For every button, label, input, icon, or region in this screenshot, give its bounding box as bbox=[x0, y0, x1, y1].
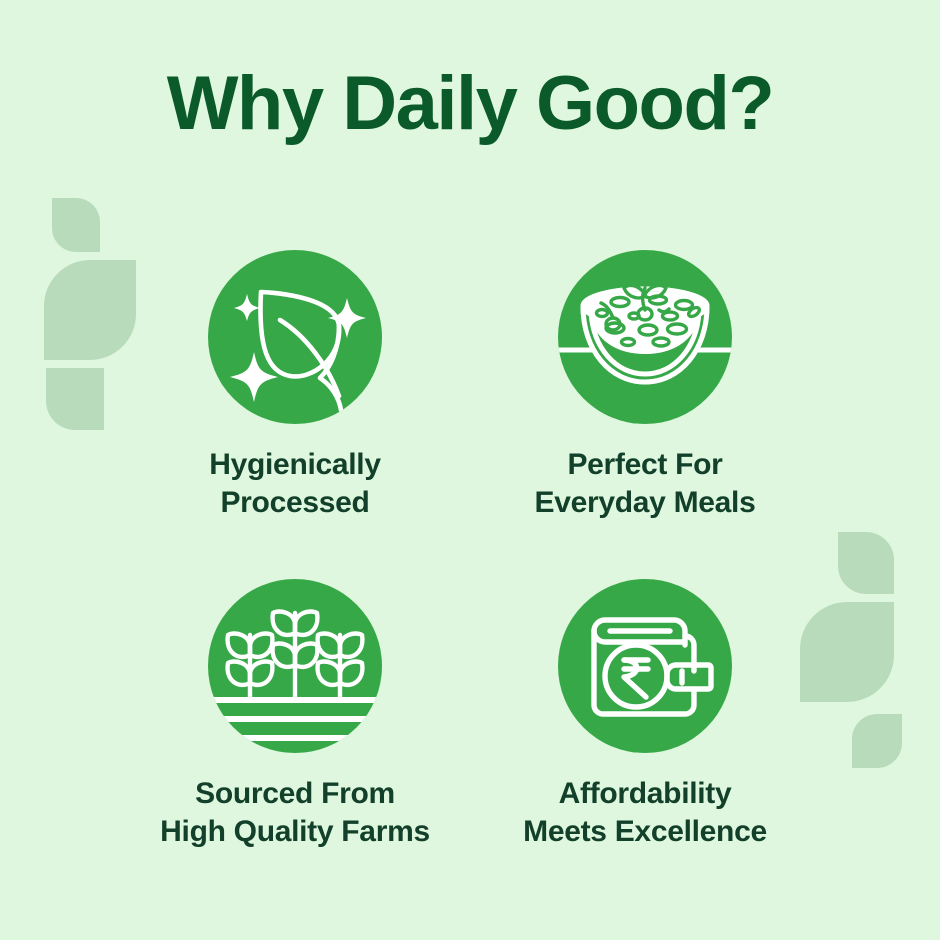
leaf-shape-icon bbox=[852, 714, 902, 768]
leaf-shape-icon bbox=[838, 532, 894, 594]
leaf-shape-icon bbox=[52, 198, 100, 252]
icon-badge bbox=[208, 579, 382, 753]
wheat-farm-icon bbox=[208, 579, 382, 753]
sparkle-leaf-icon bbox=[208, 250, 382, 424]
feature-item-sourced-from-high-quality-farms: Sourced From High Quality Farms bbox=[120, 579, 470, 852]
feature-label: Sourced From High Quality Farms bbox=[160, 775, 430, 852]
leaf-shape-icon bbox=[46, 368, 104, 430]
rupee-wallet-icon bbox=[558, 579, 732, 753]
feature-item-perfect-for-everyday-meals: Perfect For Everyday Meals bbox=[470, 250, 820, 523]
feature-label: Hygienically Processed bbox=[209, 446, 380, 523]
feature-label: Perfect For Everyday Meals bbox=[535, 446, 756, 523]
feature-grid: Hygienically Processed bbox=[120, 250, 820, 852]
soup-bowl-icon bbox=[558, 250, 732, 424]
icon-badge bbox=[558, 579, 732, 753]
feature-item-hygienically-processed: Hygienically Processed bbox=[120, 250, 470, 523]
page-title: Why Daily Good? bbox=[0, 66, 940, 142]
icon-badge bbox=[208, 250, 382, 424]
feature-item-affordability-meets-excellence: Affordability Meets Excellence bbox=[470, 579, 820, 852]
feature-label: Affordability Meets Excellence bbox=[523, 775, 767, 852]
icon-badge bbox=[558, 250, 732, 424]
poster-canvas: Why Daily Good? Hygien bbox=[0, 0, 940, 940]
